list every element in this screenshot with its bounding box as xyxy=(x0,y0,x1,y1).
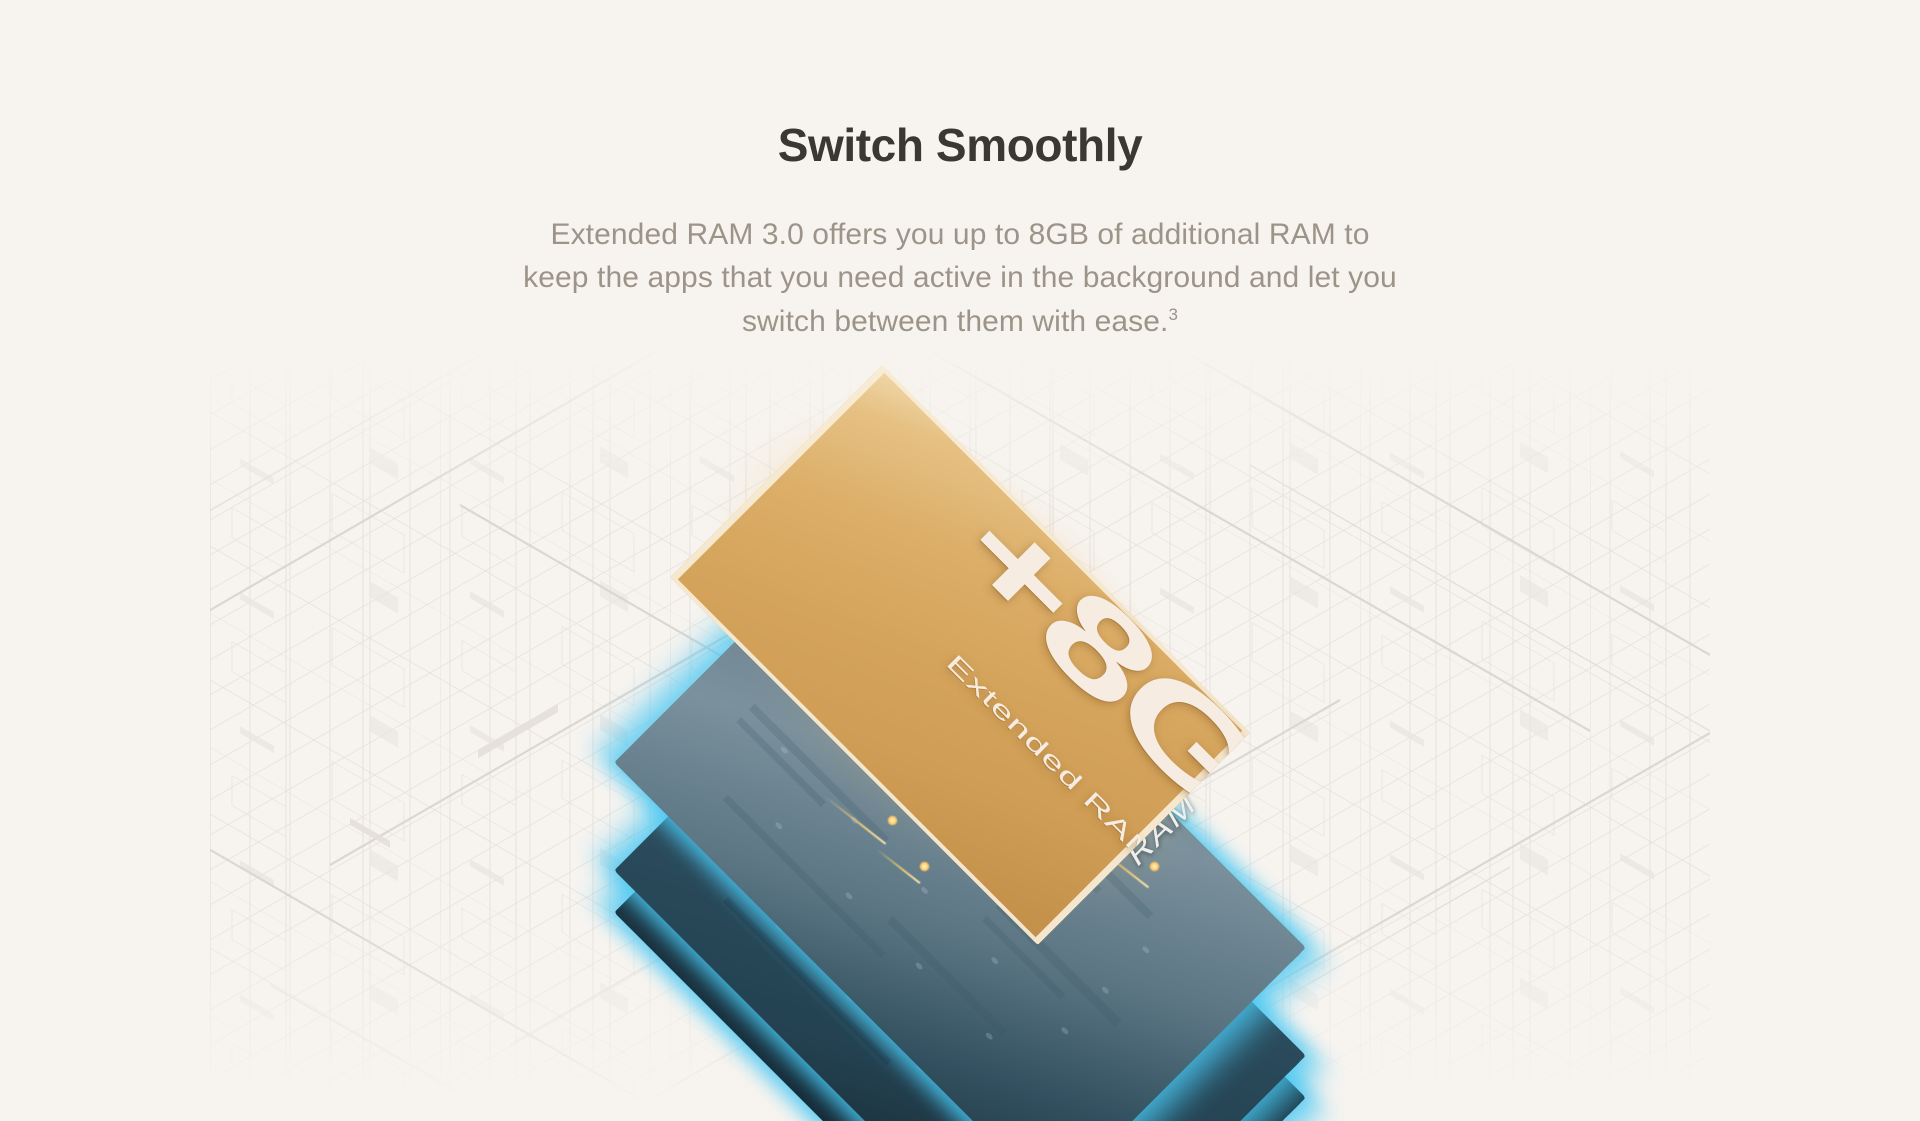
product-feature-page: RAM +8GB Extended RAM Switch Smo xyxy=(0,0,1920,1121)
extended-ram-caption: Extended RAM xyxy=(941,649,1163,872)
gold-plate-lettering: +8GB Extended RAM xyxy=(787,418,1134,892)
description-line-1: Extended RAM 3.0 offers you up to 8GB of… xyxy=(550,218,1369,251)
ram-layer-stack-graphic: RAM +8GB Extended RAM xyxy=(510,395,1410,1095)
description-footnote-marker: 3 xyxy=(1168,305,1178,324)
description-line-2: keep the apps that you need active in th… xyxy=(523,261,1397,294)
extended-ram-gold-plate: +8GB Extended RAM xyxy=(700,395,1220,915)
feature-description: Extended RAM 3.0 offers you up to 8GB of… xyxy=(460,213,1460,344)
description-line-3: switch between them with ease. xyxy=(742,305,1169,338)
feature-copy-block: Switch Smoothly Extended RAM 3.0 offers … xyxy=(0,0,1920,343)
page-title: Switch Smoothly xyxy=(0,120,1920,171)
